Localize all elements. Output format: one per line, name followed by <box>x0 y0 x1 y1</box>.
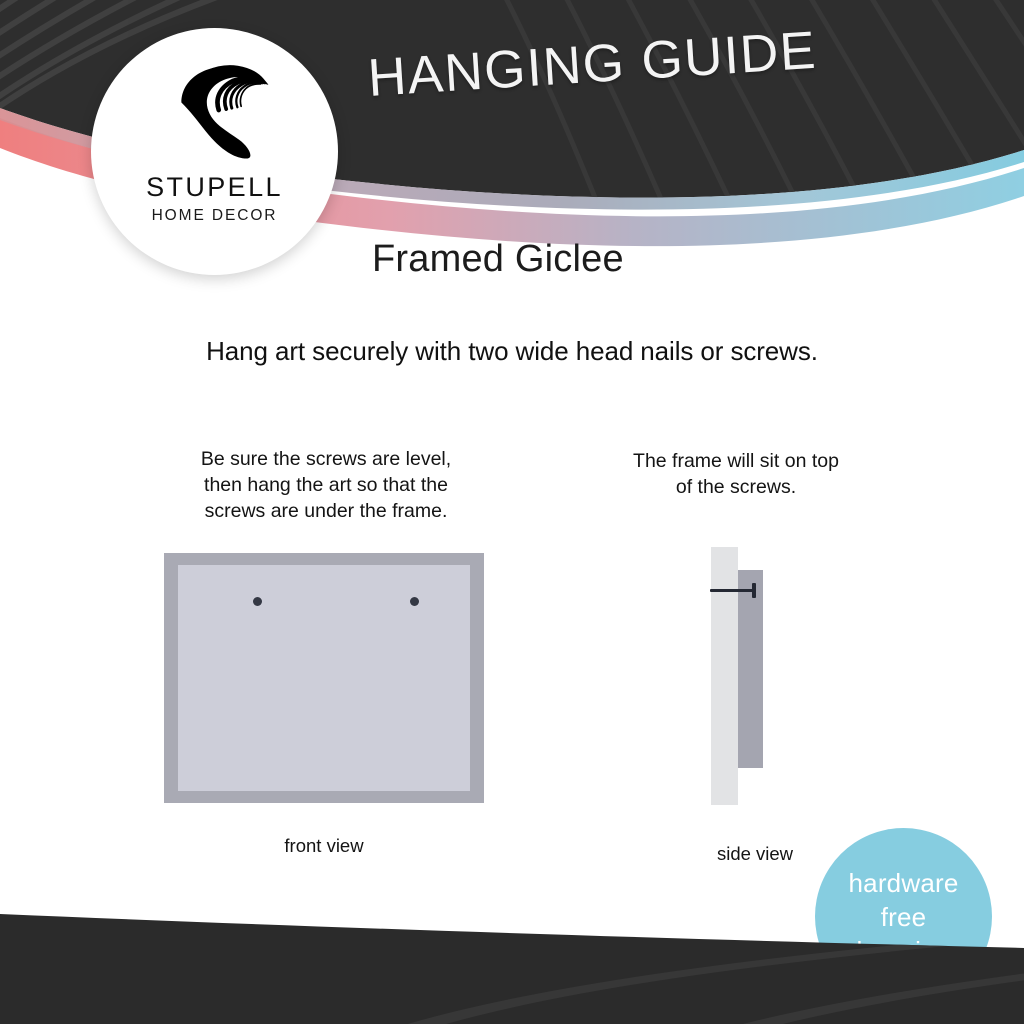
side-view-caption-line-2: of the screws. <box>586 474 886 500</box>
front-view-caption-line-1: Be sure the screws are level, <box>136 446 516 472</box>
nail-icon <box>710 589 755 592</box>
side-view-caption-line-1: The frame will sit on top <box>586 448 886 474</box>
badge-line-3: hanging <box>857 934 951 968</box>
brand-tagline: HOME DECOR <box>152 207 278 225</box>
badge-line-1: hardware <box>849 866 959 900</box>
hardware-free-badge: hardware free hanging <box>815 828 992 1005</box>
front-view-caption-line-2: then hang the art so that the <box>136 472 516 498</box>
product-type: Framed Giclee <box>372 238 624 281</box>
hanging-guide-page: STUPELL HOME DECOR HANGING GUIDE Framed … <box>0 0 1024 1024</box>
side-view-caption: The frame will sit on top of the screws. <box>586 448 886 500</box>
screw-dot-left <box>253 597 262 606</box>
brand-name: STUPELL <box>146 172 283 203</box>
side-view-diagram <box>700 547 810 805</box>
stupell-swoosh-icon <box>159 54 271 166</box>
brand-logo-badge: STUPELL HOME DECOR <box>91 28 338 275</box>
front-view-label: front view <box>164 835 484 857</box>
page-title: HANGING GUIDE <box>366 20 818 109</box>
wall-surface <box>711 547 738 805</box>
frame-profile <box>738 570 763 768</box>
side-view-label: side view <box>660 843 850 865</box>
front-view-artwork-area <box>178 565 470 791</box>
screw-dot-right <box>410 597 419 606</box>
front-view-caption: Be sure the screws are level, then hang … <box>136 446 516 524</box>
nail-head-icon <box>752 583 756 598</box>
front-view-caption-line-3: screws are under the frame. <box>136 498 516 524</box>
main-instruction: Hang art securely with two wide head nai… <box>0 336 1024 367</box>
badge-line-2: free <box>881 900 927 934</box>
front-view-diagram <box>164 553 484 803</box>
